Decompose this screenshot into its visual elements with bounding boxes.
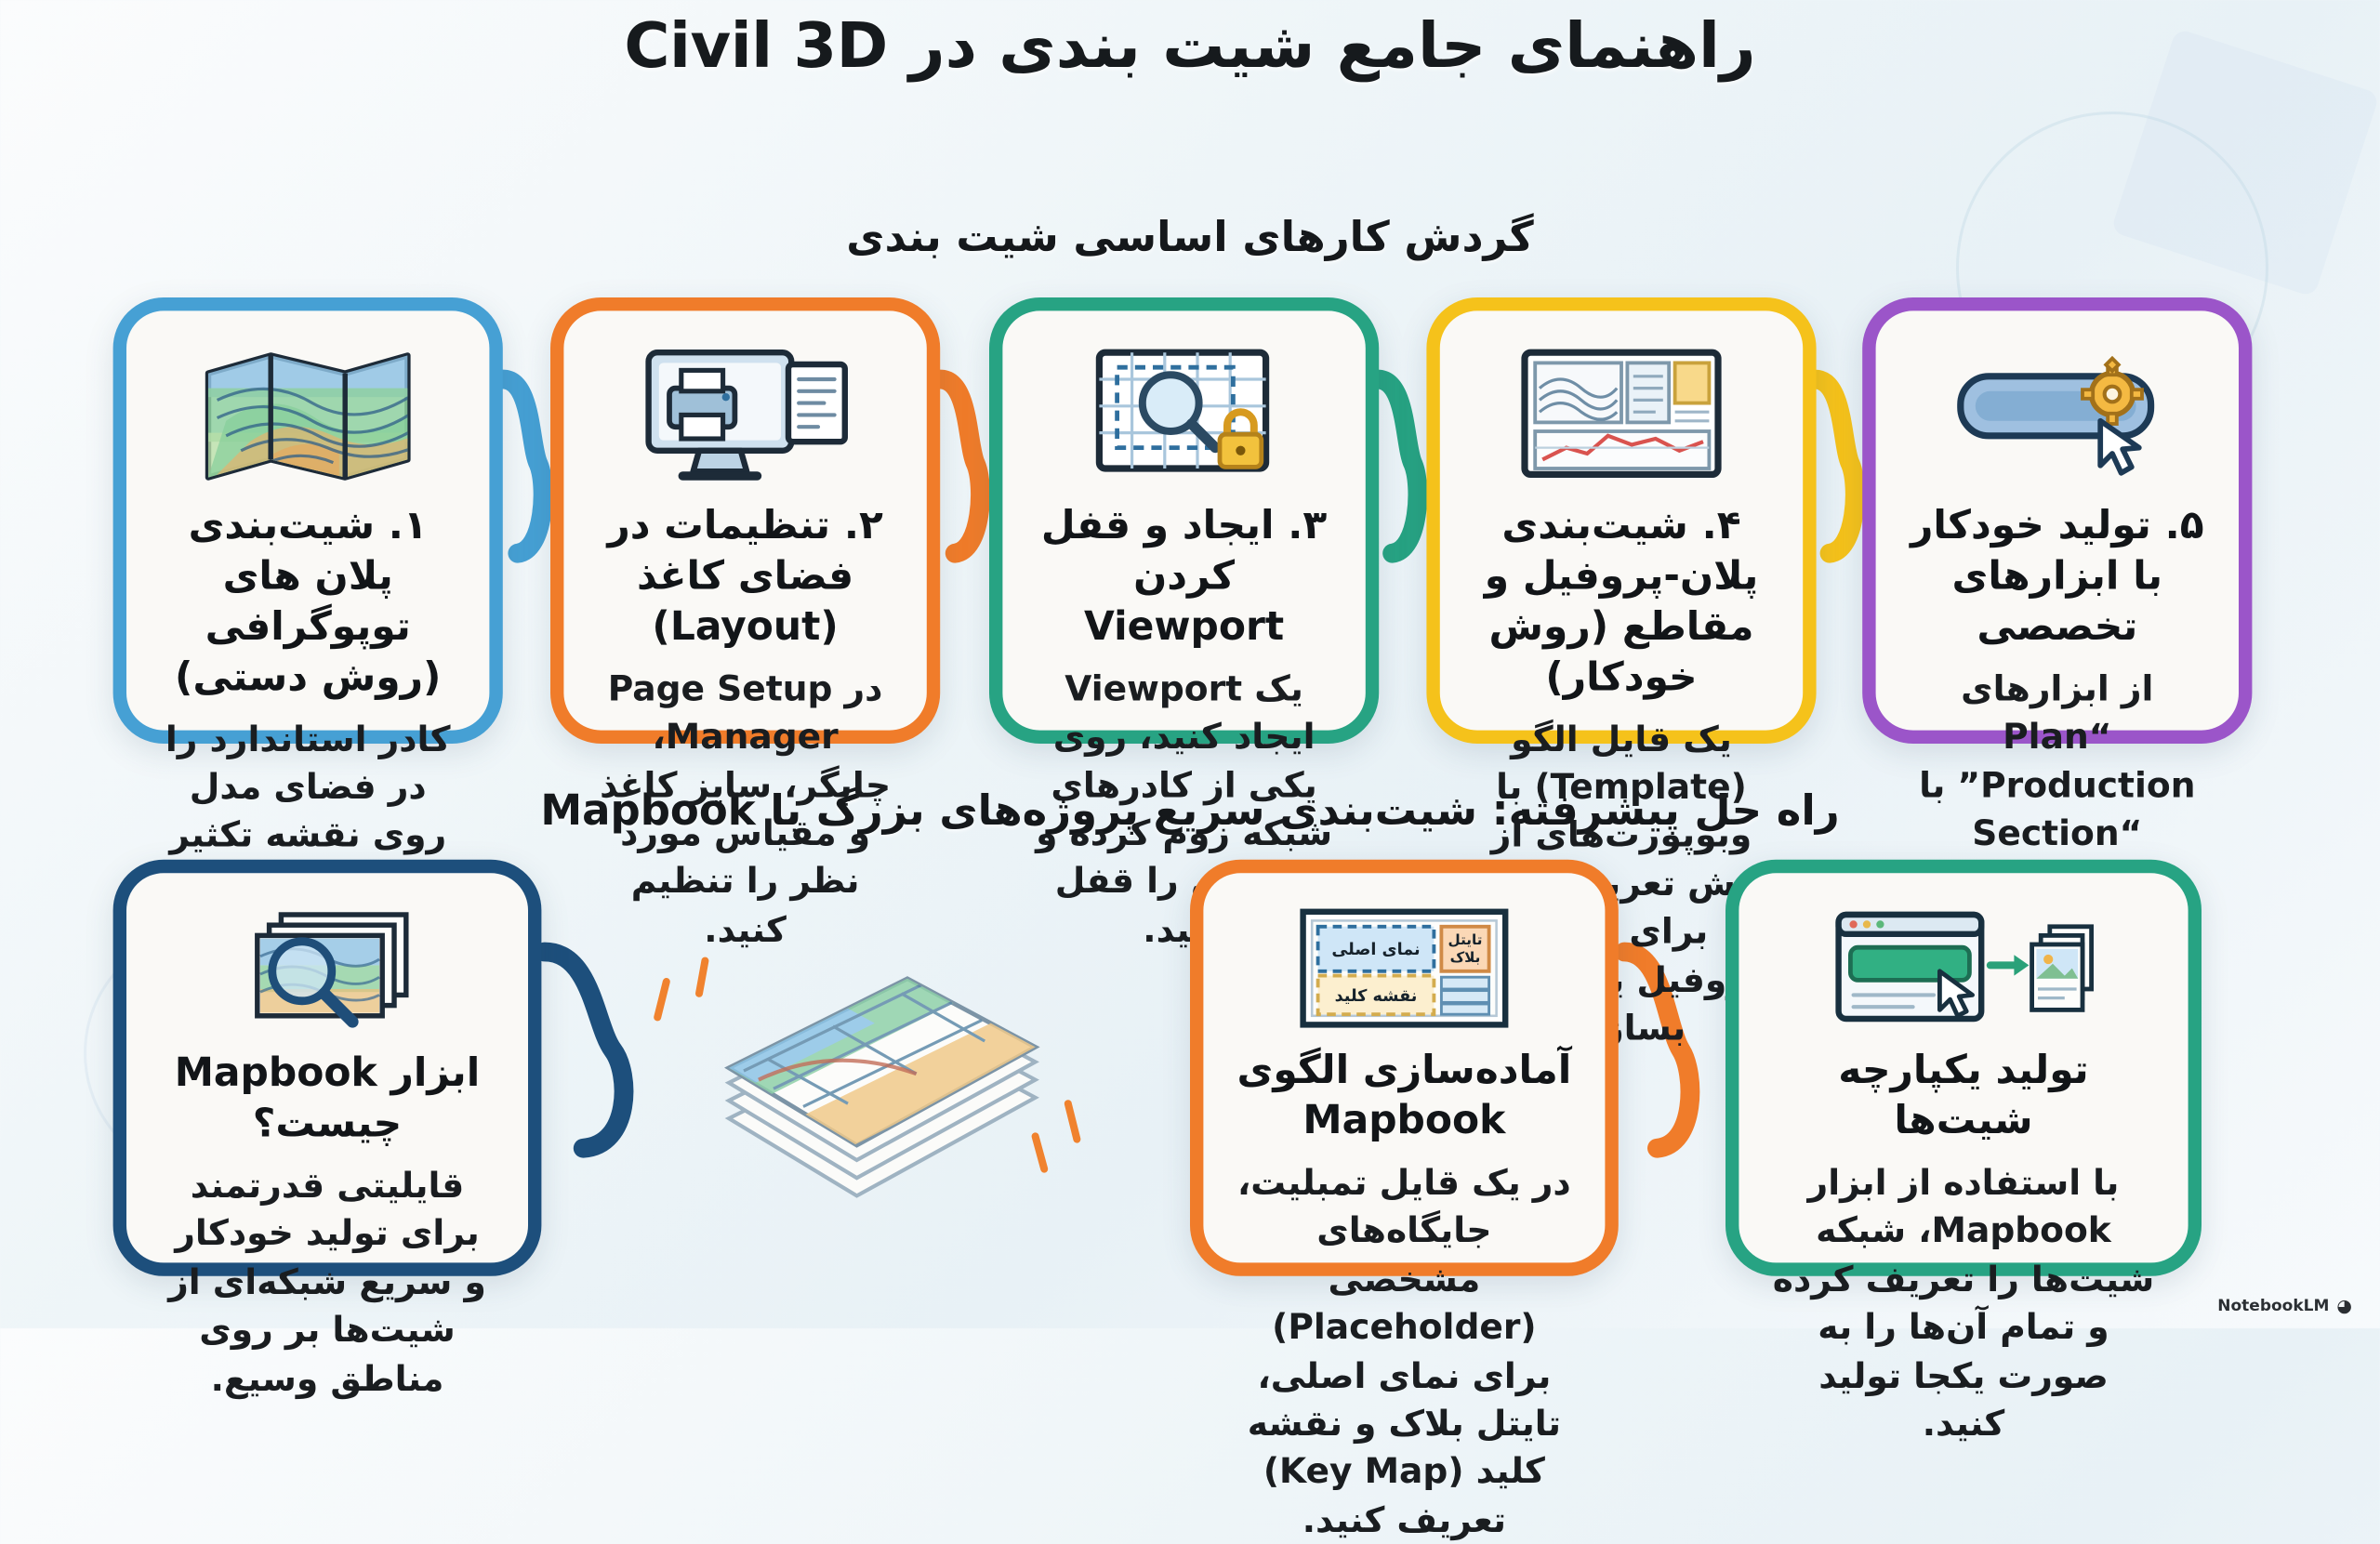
watermark-label: NotebookLM [2217, 1297, 2329, 1315]
stacked-maps-magnifier-icon [159, 905, 496, 1034]
svg-text:نمای اصلی: نمای اصلی [1331, 941, 1420, 959]
mapbook-card-2-body: در یک قایل تمبلیت، جایگاه‌های مشخصی (Pla… [1236, 1158, 1573, 1544]
mapbook-card-3[interactable]: تولید یکپارچه شیت‌ها با استفاده از ابزار… [1725, 860, 2201, 1276]
batch-generate-sheets-icon [1772, 905, 2156, 1030]
workflow-card-5[interactable]: ۵. تولید خودکار با ابزارهای تخصصی از ابز… [1862, 297, 2252, 744]
viewport-magnifier-lock-icon [1036, 344, 1333, 487]
svg-text:تایتل: تایتل [1448, 931, 1483, 948]
workflow-card-2[interactable]: ۲. تنظیمات در فضای کاغذ (Layout) در Page… [550, 297, 940, 744]
content-scaler: ۱. شیت‌بندی پلان های توپوگرافی (روش دستی… [0, 0, 2380, 1328]
mapbook-card-2-title: آماده‌سازی الگوی Mapbook [1236, 1046, 1573, 1147]
mapbook-card-1-body: قایلیتی قدرتمند برای تولید خودکار و سریع… [159, 1161, 496, 1402]
workflow-card-1[interactable]: ۱. شیت‌بندی پلان های توپوگرافی (روش دستی… [113, 297, 503, 744]
plan-profile-template-icon [1473, 344, 1770, 487]
workflow-card-5-title: ۵. تولید خودکار با ابزارهای تخصصی [1909, 501, 2206, 653]
workflow-card-4[interactable]: ۴. شیت‌بندی پلان-پروفیل و مقاطع (روش خود… [1426, 297, 1816, 744]
workflow-card-2-title: ۲. تنظیمات در فضای کاغذ (Layout) [597, 501, 894, 653]
workflow-card-4-title: ۴. شیت‌بندی پلان-پروفیل و مقاطع (روش خود… [1473, 501, 1770, 703]
mapbook-card-1-title: ابزار Mapbook چیست؟ [159, 1049, 496, 1150]
svg-text:بلاک: بلاک [1450, 949, 1481, 966]
infographic-page: راهنمای جامع شیت بندی در Civil 3D گردش ک… [0, 0, 2380, 1328]
workflow-card-3-title: ۳. ایجاد و قفل کردن Viewport [1036, 501, 1333, 653]
monitor-printer-page-setup-icon [597, 344, 894, 487]
folded-topographic-map-icon [159, 344, 456, 487]
stacked-map-sheets-illustration [625, 892, 1116, 1249]
mapbook-card-2[interactable]: نمای اصلی نقشه کلید تایتل بلاک آ [1190, 860, 1619, 1276]
mapbook-card-3-body: با استفاده از ابزار Mapbook، شبکه شیت‌ها… [1772, 1158, 2156, 1447]
automation-gear-cursor-icon [1909, 344, 2206, 487]
workflow-card-1-title: ۱. شیت‌بندی پلان های توپوگرافی (روش دستی… [159, 501, 456, 703]
mapbook-card-3-title: تولید یکپارچه شیت‌ها [1772, 1046, 2156, 1147]
workflow-card-3[interactable]: ۳. ایجاد و قفل کردن Viewport یک Viewport… [989, 297, 1379, 744]
mapbook-card-1[interactable]: ابزار Mapbook چیست؟ قایلیتی قدرتمند برای… [113, 860, 542, 1276]
notebooklm-watermark: ◕ NotebookLM [2217, 1297, 2352, 1315]
template-placeholders-icon: نمای اصلی نقشه کلید تایتل بلاک [1236, 905, 1573, 1030]
svg-text:نقشه کلید: نقشه کلید [1335, 987, 1418, 1006]
notebooklm-logo-icon: ◕ [2336, 1298, 2352, 1315]
